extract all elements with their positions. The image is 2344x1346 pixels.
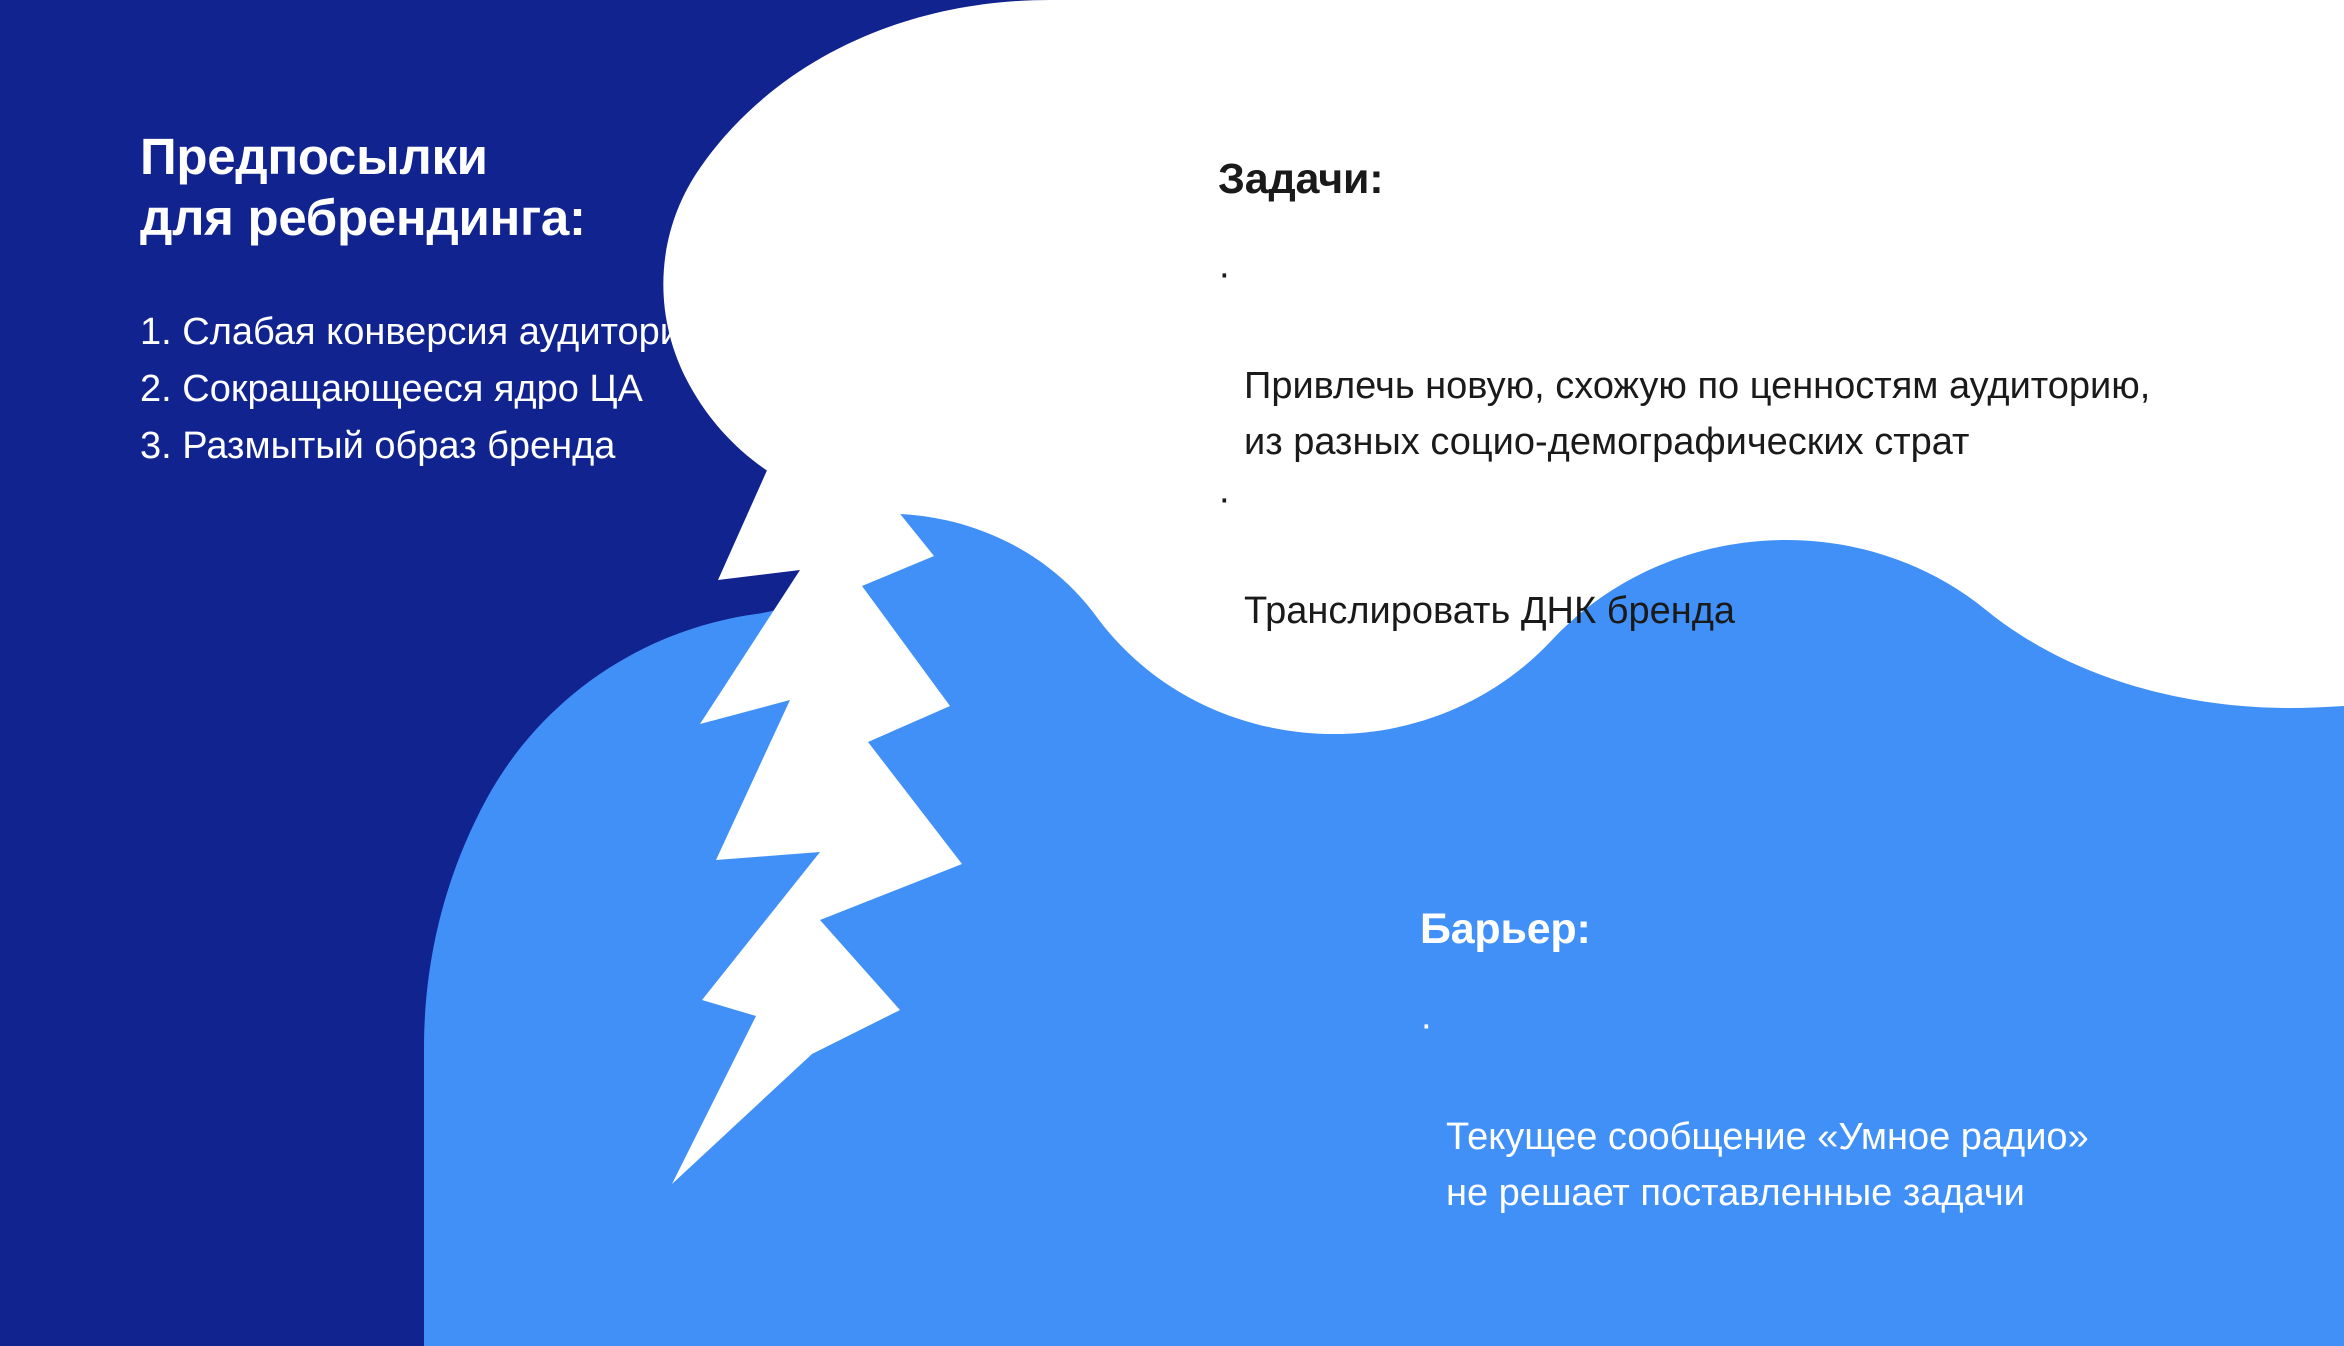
list-item: 2. Сокращающееся ядро ЦА [140, 361, 900, 418]
list-item: · Текущее сообщение «Умное радио» не реш… [1420, 998, 2280, 1221]
bullet-dot-icon: · [1218, 247, 1231, 303]
list-item: 1. Слабая конверсия аудитории [140, 304, 900, 361]
tasks-section: Задачи: · Привлечь новую, схожую по ценн… [1218, 155, 2278, 640]
slide-canvas: Предпосылки для ребрендинга: 1. Слабая к… [0, 0, 2344, 1346]
tasks-heading: Задачи: [1218, 155, 2278, 204]
tasks-list: · Привлечь новую, схожую по ценностям ау… [1218, 247, 2278, 640]
list-item: · Транслировать ДНК бренда [1218, 472, 2278, 640]
premises-list: 1. Слабая конверсия аудитории 2. Сокраща… [140, 304, 900, 475]
list-item-text: Привлечь новую, схожую по ценностям ауди… [1244, 365, 2150, 463]
list-item-text: Транслировать ДНК бренда [1244, 590, 1735, 632]
barrier-heading: Барьер: [1420, 905, 2280, 954]
barrier-list: · Текущее сообщение «Умное радио» не реш… [1420, 998, 2280, 1221]
bullet-dot-icon: · [1218, 472, 1231, 528]
barrier-section: Барьер: · Текущее сообщение «Умное радио… [1420, 905, 2280, 1221]
list-item: · Привлечь новую, схожую по ценностям ау… [1218, 247, 2278, 470]
premises-heading: Предпосылки для ребрендинга: [140, 126, 900, 248]
bullet-dot-icon: · [1420, 998, 1433, 1054]
premises-section: Предпосылки для ребрендинга: 1. Слабая к… [140, 126, 900, 475]
list-item-text: Текущее сообщение «Умное радио» не решае… [1446, 1116, 2089, 1214]
list-item: 3. Размытый образ бренда [140, 418, 900, 475]
